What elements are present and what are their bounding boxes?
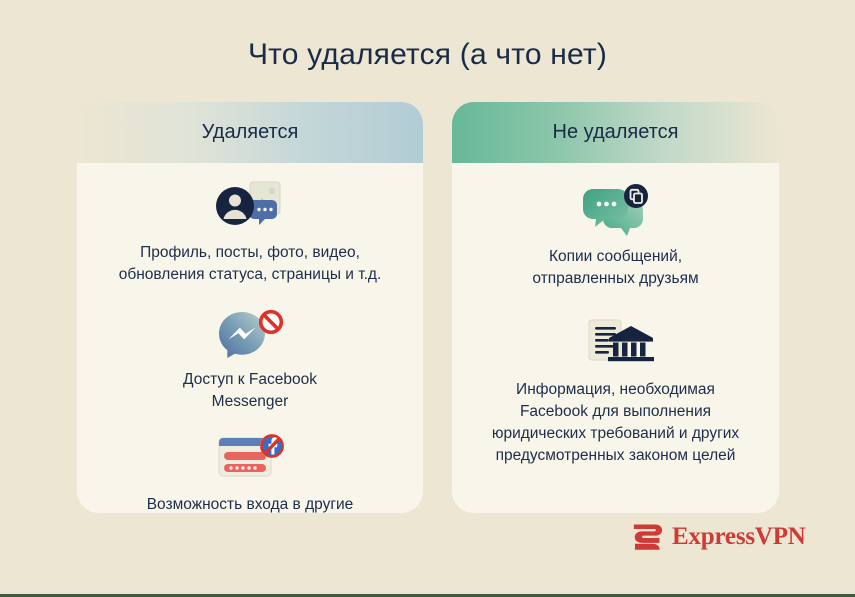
column-header-not-deleted: Не удаляется xyxy=(452,102,779,163)
list-item: Возможность входа в другие аккаунты чере… xyxy=(93,433,407,513)
list-item: Профиль, посты, фото, видео, обновления … xyxy=(93,181,407,286)
list-item: Копии сообщений, отправленных друзьям xyxy=(468,185,763,290)
profile-photo-message-icon xyxy=(202,181,298,233)
list-item-label: Возможность входа в другие аккаунты чере… xyxy=(147,494,354,513)
column-body-not-deleted: Копии сообщений, отправленных друзьям xyxy=(452,163,779,513)
list-item-label: Информация, необходимая Facebook для вып… xyxy=(492,379,739,467)
expressvpn-mark-icon xyxy=(633,523,663,551)
list-item-label: Копии сообщений, отправленных друзьям xyxy=(532,246,698,290)
page-title: Что удаляется (а что нет) xyxy=(0,38,855,72)
expressvpn-wordmark: ExpressVPN xyxy=(672,523,806,551)
messenger-blocked-icon xyxy=(202,308,298,360)
chat-bubbles-copy-icon xyxy=(568,185,664,237)
column-header-deleted: Удаляется xyxy=(77,102,423,163)
column-header-label: Удаляется xyxy=(202,121,299,144)
column-card-not-deleted: Не удаляется xyxy=(452,102,779,513)
column-header-label: Не удаляется xyxy=(553,121,679,144)
list-item-label: Профиль, посты, фото, видео, обновления … xyxy=(119,242,382,286)
document-courthouse-icon xyxy=(568,318,664,370)
expressvpn-logo: ExpressVPN xyxy=(633,523,806,551)
infographic-page: Что удаляется (а что нет) Удаляется xyxy=(0,0,855,597)
list-item: Информация, необходимая Facebook для вып… xyxy=(468,318,763,467)
list-item: Доступ к Facebook Messenger xyxy=(93,308,407,413)
column-body-deleted: Профиль, посты, фото, видео, обновления … xyxy=(77,163,423,513)
column-card-deleted: Удаляется xyxy=(77,102,423,513)
login-form-blocked-icon xyxy=(202,433,298,485)
list-item-label: Доступ к Facebook Messenger xyxy=(183,369,317,413)
